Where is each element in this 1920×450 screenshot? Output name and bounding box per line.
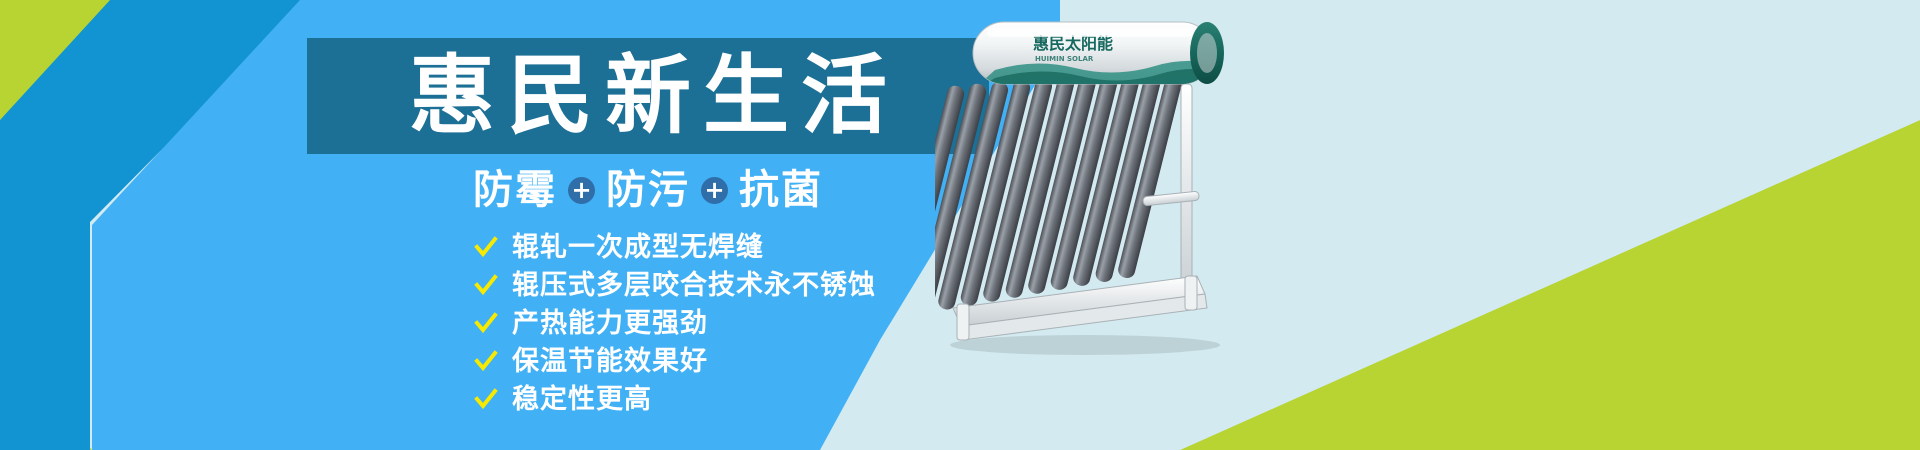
product-shadow [950,335,1220,355]
feature-label: 稳定性更高 [512,386,652,413]
storage-tank: 惠民太阳能 HUIMIN SOLAR [973,22,1235,90]
list-item: 产热能力更强劲 [474,308,876,338]
check-icon [474,273,498,297]
subtitle-word-3: 抗菌 [739,170,823,210]
check-icon [474,349,498,373]
evacuated-tubes [935,64,1186,319]
list-item: 保温节能效果好 [474,346,876,376]
solar-water-heater-image: 惠民太阳能 HUIMIN SOLAR [935,8,1265,358]
feature-label: 辊压式多层咬合技术永不锈蚀 [512,272,876,299]
check-icon [474,387,498,411]
subtitle-word-1: 防霉 [473,170,557,210]
plus-icon: + [568,177,595,204]
promo-banner: 惠民新生活 防霉 + 防污 + 抗菌 辊轧一次成型无焊缝 辊压式多层咬合技术永不… [0,0,1920,450]
feature-list: 辊轧一次成型无焊缝 辊压式多层咬合技术永不锈蚀 产热能力更强劲 保温节能效果好 [474,232,876,414]
tank-highlight [987,28,1193,37]
feature-label: 辊轧一次成型无焊缝 [512,234,764,261]
feature-label: 保温节能效果好 [512,348,708,375]
title-block: 惠民新生活 [307,38,989,154]
tank-end-cap-inner [1197,33,1217,73]
page-title: 惠民新生活 [397,53,899,139]
list-item: 稳定性更高 [474,384,876,414]
solar-water-heater-graphic: 惠民太阳能 HUIMIN SOLAR [935,8,1265,358]
subtitle-word-2: 防污 [606,170,690,210]
list-item: 辊压式多层咬合技术永不锈蚀 [474,270,876,300]
subtitle-row: 防霉 + 防污 + 抗菌 [307,170,989,210]
list-item: 辊轧一次成型无焊缝 [474,232,876,262]
tank-brand-sublabel: HUIMIN SOLAR [1035,55,1094,63]
check-icon [474,311,498,335]
feature-label: 产热能力更强劲 [512,310,708,337]
plus-icon: + [701,177,728,204]
check-icon [474,235,498,259]
